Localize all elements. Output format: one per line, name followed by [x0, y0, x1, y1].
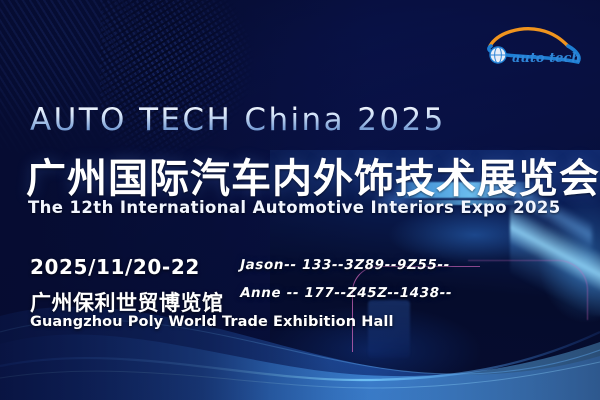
venue-chinese: 广州保利世贸博览馆 [30, 287, 224, 317]
auto-tech-china-2025-banner: auto tech AUTO TECH China 2025 广州国际汽车内外饰… [0, 0, 600, 400]
banner-text-content: AUTO TECH China 2025 广州国际汽车内外饰技术展览会 The … [0, 0, 600, 400]
contact-anne: Anne -- 177--Z45Z--1438-- [238, 285, 453, 301]
subtitle-english: The 12th International Automotive Interi… [28, 198, 561, 217]
event-date: 2025/11/20-22 [30, 255, 200, 279]
contact-jason: Jason-- 133--3Z89--9Z55-- [238, 257, 451, 273]
venue-english: Guangzhou Poly World Trade Exhibition Ha… [30, 314, 394, 330]
title-english: AUTO TECH China 2025 [30, 102, 446, 138]
title-chinese: 广州国际汽车内外饰技术展览会 [26, 146, 600, 204]
